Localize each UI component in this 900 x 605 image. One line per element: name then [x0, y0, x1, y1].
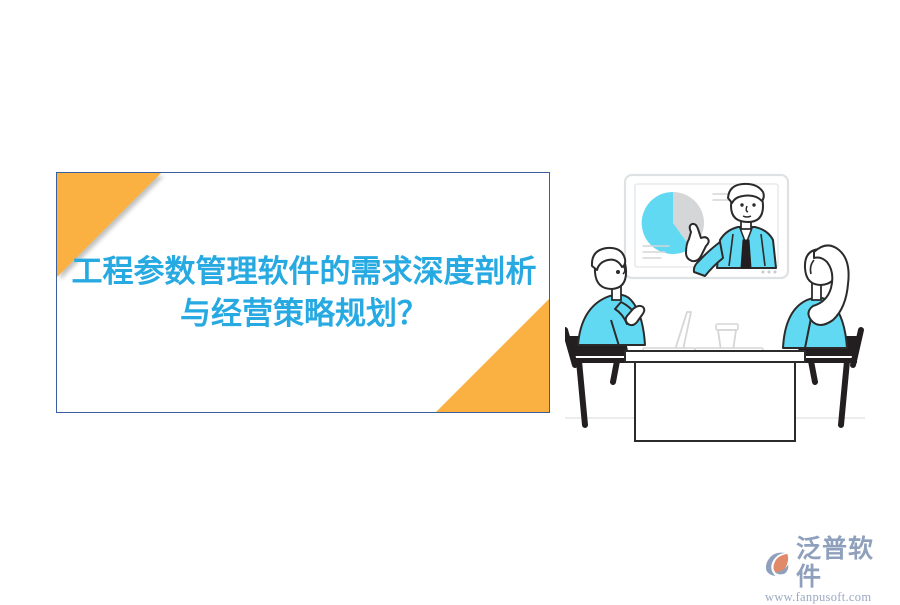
- video-conference-illustration: [565, 160, 865, 455]
- wall-display-screen: [625, 175, 788, 278]
- screen-status-dots-icon: [762, 271, 777, 274]
- banner-title: 工程参数管理软件的需求深度剖析 与经营策略规划？: [53, 251, 555, 335]
- logo-wordmark: 泛普软件: [796, 535, 894, 591]
- cup: [695, 324, 763, 354]
- banner-title-line-2: 与经营策略规划？: [53, 293, 555, 335]
- banner-title-line-1: 工程参数管理软件的需求深度剖析: [53, 251, 555, 293]
- fanpu-logo-mark-icon: [762, 548, 793, 579]
- attendee-right: [783, 245, 849, 348]
- banner-card: 工程参数管理软件的需求深度剖析 与经营策略规划？: [56, 172, 550, 413]
- laptop: [643, 312, 695, 354]
- logo-url-text: www.fanpusoft.com: [765, 590, 894, 605]
- watermark-logo: 泛普软件 www.fanpusoft.com: [762, 535, 894, 585]
- meeting-table: [625, 351, 805, 441]
